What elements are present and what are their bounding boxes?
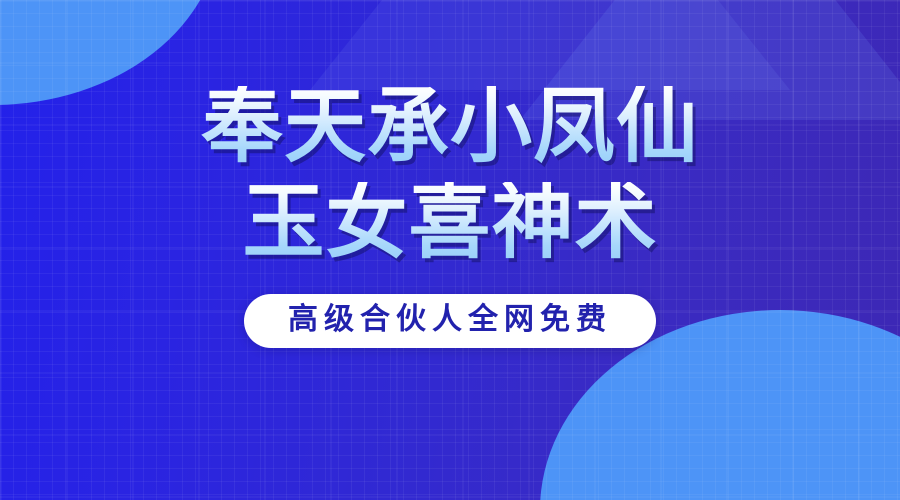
headline-line-1: 奉天承小凤仙 xyxy=(201,86,699,168)
promo-banner: 奉天承小凤仙 玉女喜神术 高级合伙人全网免费 xyxy=(0,0,900,500)
subtitle-pill-label: 高级合伙人全网免费 xyxy=(288,305,612,335)
subtitle-pill[interactable]: 高级合伙人全网免费 xyxy=(244,294,656,348)
banner-content: 奉天承小凤仙 玉女喜神术 高级合伙人全网免费 xyxy=(0,0,900,500)
headline-line-2: 玉女喜神术 xyxy=(242,182,657,264)
